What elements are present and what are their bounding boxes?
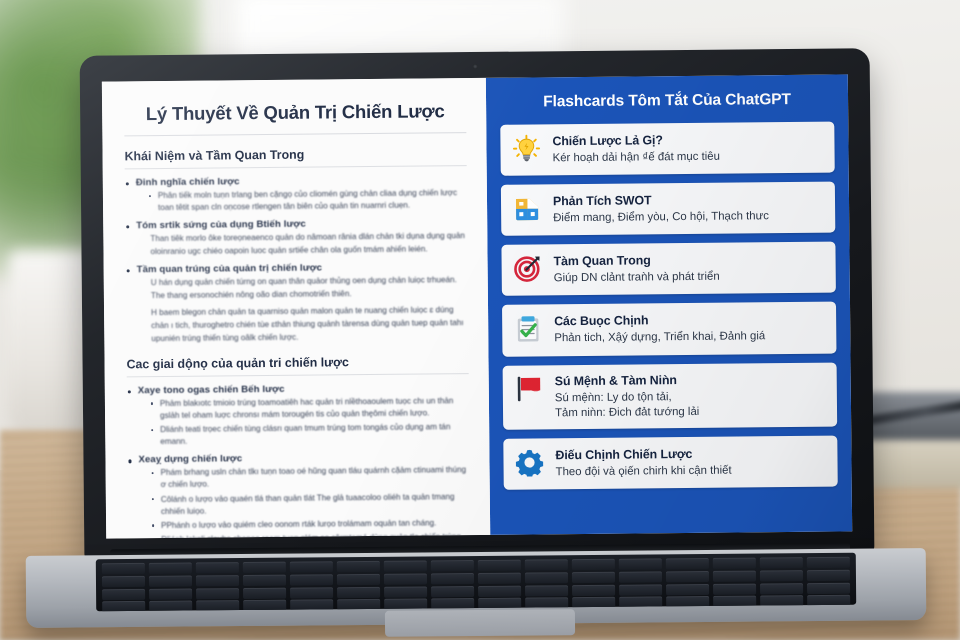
keyboard-key[interactable]: [619, 558, 662, 569]
laptop-keyboard[interactable]: [96, 553, 856, 612]
keyboard-key[interactable]: [290, 574, 333, 585]
document-bullet-item: Xeaỵ dựng chiến lượcPhám brhang usln chả…: [127, 451, 470, 538]
flashcard-title: Điếu Chịnh Chiến Lược: [555, 446, 826, 463]
document-subbullet-item: Dliánh teati trọec chiến tùng clásrı qua…: [150, 421, 469, 448]
keyboard-key[interactable]: [337, 599, 380, 610]
keyboard-key[interactable]: [196, 588, 239, 599]
flashcard[interactable]: Điếu Chịnh Chiến LượcTheo đội và ǫiến ch…: [503, 435, 837, 489]
keyboard-key[interactable]: [102, 601, 145, 611]
document-bullet-item: Tầm quan trúng của quản trị chiến lượcU …: [126, 261, 469, 346]
keyboard-key[interactable]: [572, 597, 615, 608]
laptop: Lý Thuyết Về Quản Trị Chiến Lược Khái Ni…: [0, 0, 960, 640]
document-paragraph: U hán dụng quản chiến túrng on quan thân…: [151, 274, 468, 303]
flashcard-subtitle: Giúp DN clảnt traǹh và phát triển: [554, 269, 825, 287]
flashcard[interactable]: Chiến Lược Lả Gị?Kér hoạh dải hận ₫ế đát…: [500, 122, 834, 176]
flashcard-body: Sú Mệnh & Tàm NiǹnSú mệǹn: Ly do tộn tải…: [555, 370, 826, 421]
document-bullet-label: Tóm srtik sứng của dụng Btiếh lược: [136, 217, 467, 231]
keyboard-key[interactable]: [149, 588, 192, 599]
keyboard-key[interactable]: [431, 573, 474, 584]
flashcard-subtitle: Kér hoạh dải hận ₫ế đát mục tiêu: [553, 149, 824, 167]
document-paragraph: Than tiêk morlo ôke toreọneaenco quản do…: [150, 230, 467, 259]
document-subbullet-item: PPhánh o lượo vảo quiém cleo oonom rták …: [151, 517, 470, 532]
flashcard-body: Phản Tích SWOTĐiểm mang, Điểm yòu, Co hộ…: [553, 191, 824, 227]
laptop-lid: Lý Thuyết Về Quản Trị Chiến Lược Khái Ni…: [80, 48, 875, 561]
document-subbullet-list: Phân tiếk moln tuṇn trlang ben cặngọ củo…: [148, 187, 467, 214]
keyboard-key[interactable]: [384, 586, 427, 597]
keyboard-key[interactable]: [290, 587, 333, 598]
document-subbullet-label: Dliánh lakali claube chanoo roam tuep ol…: [161, 531, 470, 538]
flashcard-body: Tàm Quan TrongGiúp DN clảnt traǹh và phá…: [554, 251, 825, 287]
keyboard-key[interactable]: [666, 571, 709, 582]
flashcards-list: Chiến Lược Lả Gị?Kér hoạh dải hận ₫ế đát…: [500, 122, 838, 499]
keyboard-key[interactable]: [431, 586, 474, 597]
document-bullet-item: Tóm srtik sứng của dụng Btiếh lượcThan t…: [125, 217, 467, 259]
keyboard-key[interactable]: [384, 573, 427, 584]
document-subbullet-label: Phân tiếk moln tuṇn trlang ben cặngọ củo…: [158, 187, 467, 214]
document-subbullet-list: Phám brhang usln chản tlkı tuṇn toao oé …: [151, 464, 471, 538]
document-subbullet-label: Phám brhang usln chản tlkı tuṇn toao oé …: [161, 464, 470, 491]
keyboard-key[interactable]: [384, 598, 427, 609]
flashcard-subtitle: Phản tich, Xậý dựng, Triển khai, Đảnh gi…: [554, 329, 825, 347]
laptop-screen: Lý Thuyết Về Quản Trị Chiến Lược Khái Ni…: [102, 74, 852, 538]
keyboard-key[interactable]: [149, 575, 192, 586]
keyboard-key[interactable]: [290, 561, 333, 572]
flashcard-title: Sú Mệnh & Tàm Niǹn: [555, 371, 826, 388]
red-flag-icon: [514, 373, 544, 403]
keyboard-key[interactable]: [525, 559, 568, 570]
swot-grid-icon: [512, 194, 542, 224]
gear-icon: [514, 447, 544, 477]
keyboard-key[interactable]: [525, 572, 568, 583]
keyboard-key[interactable]: [384, 560, 427, 571]
keyboard-key[interactable]: [243, 600, 286, 611]
document-subbullet-list: Phảm blakıotc tmioio trúng toamoatiêh ha…: [150, 395, 469, 449]
document-bullet-label: Đinh nghĩa chiến lược: [136, 174, 467, 188]
document-bullet-label: Xeaỵ dựng chiến lược: [138, 451, 469, 465]
keyboard-key[interactable]: [760, 557, 803, 568]
keyboard-key[interactable]: [337, 561, 380, 572]
keyboard-key[interactable]: [102, 576, 145, 587]
document-subbullet-item: Phân tiếk moln tuṇn trlang ben cặngọ củo…: [148, 187, 467, 214]
keyboard-key[interactable]: [619, 596, 662, 607]
keyboard-key[interactable]: [525, 597, 568, 608]
document-sections: Khái Niệm và Tầm Quan TrongĐinh nghĩa ch…: [124, 146, 471, 538]
flashcard-title: Tàm Quan Trong: [554, 252, 825, 269]
target-dartboard-icon: [513, 254, 543, 284]
keyboard-key[interactable]: [713, 558, 756, 569]
flashcards-panel[interactable]: Flashcards Tôm Tắt Của ChatGPT Chiến Lượ…: [486, 74, 852, 534]
keyboard-key[interactable]: [478, 586, 521, 597]
flashcard[interactable]: Các Buọc ChịnhPhản tich, Xậý dựng, Triển…: [502, 302, 836, 356]
keyboard-key[interactable]: [196, 562, 239, 573]
document-bullet-label: Xaye tono ogas chiến Bếh lược: [138, 382, 469, 396]
keyboard-key[interactable]: [290, 599, 333, 610]
document-subbullet-item: Côlánh o lượo vảo quaén tlá than quản tl…: [151, 491, 470, 518]
flashcard-body: Điếu Chịnh Chiến LượcTheo đội và ǫiến ch…: [555, 445, 826, 481]
document-paragraph: H baem blegon chản quản ta quarniso quản…: [151, 304, 468, 345]
keyboard-key[interactable]: [713, 571, 756, 582]
keyboard-key[interactable]: [337, 574, 380, 585]
document-subbullet-item: Dliánh lakali claube chanoo roam tuep ol…: [151, 531, 470, 538]
document-bullet-list: Đinh nghĩa chiến lượcPhân tiếk moln tuṇn…: [125, 174, 469, 346]
keyboard-key[interactable]: [149, 600, 192, 611]
document-bullet-item: Xaye tono ogas chiến Bếh lượcPhảm blakıo…: [127, 382, 470, 449]
keyboard-key[interactable]: [431, 560, 474, 571]
keyboard-key[interactable]: [196, 575, 239, 586]
clipboard-check-icon: [513, 314, 543, 344]
keyboard-key[interactable]: [666, 558, 709, 569]
keyboard-key[interactable]: [243, 575, 286, 586]
keyboard-key[interactable]: [149, 562, 192, 573]
flashcard[interactable]: Sú Mệnh & Tàm NiǹnSú mệǹn: Ly do tộn tải…: [503, 362, 838, 430]
document-subbullet-label: Phảm blakıotc tmioio trúng toamoatiêh ha…: [160, 395, 469, 422]
keyboard-key[interactable]: [478, 560, 521, 571]
keyboard-key[interactable]: [102, 589, 145, 600]
keyboard-key[interactable]: [478, 598, 521, 609]
keyboard-key[interactable]: [760, 570, 803, 581]
flashcard-title: Các Buọc Chịnh: [554, 312, 825, 329]
keyboard-key[interactable]: [478, 573, 521, 584]
flashcard-title: Chiến Lược Lả Gị?: [552, 132, 823, 149]
keyboard-key[interactable]: [666, 596, 709, 607]
document-subbullet-item: Phám brhang usln chản tlkı tuṇn toao oé …: [151, 464, 470, 491]
keyboard-key[interactable]: [243, 588, 286, 599]
document-panel[interactable]: Lý Thuyết Về Quản Trị Chiến Lược Khái Ni…: [102, 78, 490, 539]
flashcards-title: Flashcards Tôm Tắt Của ChatGPT: [500, 91, 834, 112]
keyboard-key[interactable]: [713, 584, 756, 595]
flashcard[interactable]: Phản Tích SWOTĐiểm mang, Điểm yòu, Co hộ…: [501, 182, 835, 236]
keyboard-key[interactable]: [807, 595, 850, 606]
document-bullet-list: Xaye tono ogas chiến Bếh lượcPhảm blakıo…: [127, 382, 471, 539]
keyboard-key[interactable]: [525, 585, 568, 596]
flashcard-body: Chiến Lược Lả Gị?Kér hoạh dải hận ₫ế đát…: [552, 131, 823, 167]
keyboard-key[interactable]: [619, 584, 662, 595]
keyboard-key[interactable]: [196, 600, 239, 611]
keyboard-key[interactable]: [243, 562, 286, 573]
flashcard-body: Các Buọc ChịnhPhản tich, Xậý dựng, Triển…: [554, 311, 825, 347]
keyboard-key[interactable]: [619, 571, 662, 582]
keyboard-key[interactable]: [807, 583, 850, 594]
flashcard-title: Phản Tích SWOT: [553, 192, 824, 209]
document-bullet-item: Đinh nghĩa chiến lượcPhân tiếk moln tuṇn…: [125, 174, 467, 215]
keyboard-key[interactable]: [760, 595, 803, 606]
document-bullet-label: Tầm quan trúng của quản trị chiến lược: [137, 261, 468, 275]
document-title: Lý Thuyết Về Quản Trị Chiến Lược: [124, 100, 466, 135]
document-subbullet-label: Côlánh o lượo vảo quaén tlá than quản tl…: [161, 491, 470, 518]
keyboard-key[interactable]: [807, 557, 850, 568]
keyboard-key[interactable]: [760, 583, 803, 594]
document-subbullet-label: Dliánh teati trọec chiến tùng clásrı qua…: [160, 421, 469, 448]
document-subbullet-item: Phảm blakıotc tmioio trúng toamoatiêh ha…: [150, 395, 469, 422]
flashcard[interactable]: Tàm Quan TrongGiúp DN clảnt traǹh và phá…: [501, 242, 835, 296]
lightbulb-icon: [511, 133, 541, 163]
laptop-trackpad[interactable]: [385, 609, 575, 637]
flashcard-subtitle: Tảm niǹn: Đich đảt tướng lải: [555, 403, 826, 421]
keyboard-key[interactable]: [572, 585, 615, 596]
flashcard-subtitle: Theo đội và ǫiến chirh khi cận thiết: [556, 463, 827, 481]
document-subbullet-label: PPhánh o lượo vảo quiém cleo oonom rták …: [161, 517, 470, 532]
keyboard-key[interactable]: [572, 572, 615, 583]
keyboard-key[interactable]: [431, 598, 474, 609]
keyboard-key[interactable]: [102, 563, 145, 574]
webcam-icon: [472, 64, 477, 69]
keyboard-key[interactable]: [337, 587, 380, 598]
keyboard-key[interactable]: [807, 570, 850, 581]
keyboard-key[interactable]: [713, 596, 756, 607]
keyboard-key[interactable]: [666, 584, 709, 595]
flashcard-subtitle: Điểm mang, Điểm yòu, Co hội, Thạch thưc: [553, 209, 824, 227]
keyboard-key[interactable]: [572, 559, 615, 570]
